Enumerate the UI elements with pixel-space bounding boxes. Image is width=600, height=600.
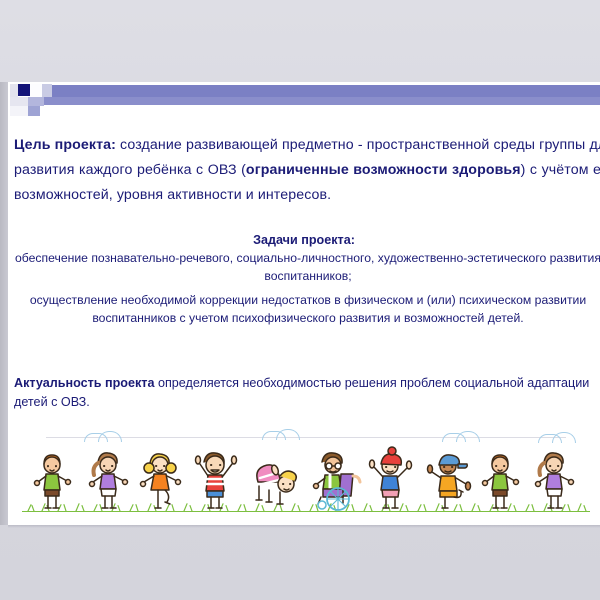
child-figure-7: [370, 447, 412, 508]
slide-header-decoration: [8, 82, 600, 117]
presentation-slide[interactable]: Цель проекта: создание развивающей предм…: [8, 82, 600, 525]
goal-paragraph: Цель проекта: создание развивающей предм…: [14, 133, 600, 208]
child-figure-10: [536, 453, 574, 508]
mosaic-tile-d: [10, 97, 28, 106]
goal-bold-lead: Цель проекта:: [14, 137, 116, 153]
screenshot-viewport: Цель проекта: создание развивающей предм…: [0, 0, 600, 600]
task-item-1: обеспечение познавательно-речевого, соци…: [14, 250, 600, 285]
tasks-heading: Задачи проекта:: [8, 233, 600, 247]
goal-bold-term: ограниченные возможности здоровья: [246, 162, 521, 178]
child-figure-6: [314, 453, 361, 510]
child-figure-8: [428, 455, 471, 508]
children-illustration: [22, 423, 590, 516]
mosaic-tile-white: [30, 84, 42, 97]
child-figure-2: [90, 453, 128, 508]
child-figure-1: [35, 455, 71, 508]
tasks-block: обеспечение познавательно-речевого, соци…: [14, 250, 600, 327]
mosaic-tile-navy: [18, 84, 30, 96]
task-item-2: осуществление необходимой коррекции недо…: [14, 292, 600, 327]
children-figures: [22, 434, 590, 512]
mosaic-tile-a: [10, 84, 18, 97]
slide-bottom-shadow: [8, 525, 600, 528]
child-figure-3: [141, 454, 181, 508]
header-accent-bar: [52, 85, 600, 97]
mosaic-tile-lavender: [42, 84, 52, 97]
relevance-paragraph: Актуальность проекта определяется необхо…: [14, 374, 594, 412]
child-figure-9: [483, 455, 519, 508]
mosaic-tile-e: [28, 97, 44, 106]
header-accent-bar-secondary: [44, 97, 600, 105]
child-figure-4: [196, 453, 237, 508]
child-figure-5: [256, 464, 296, 504]
mosaic-tile-f: [28, 106, 40, 116]
mosaic-tile-g: [10, 106, 28, 116]
relevance-bold-lead: Актуальность проекта: [14, 376, 154, 390]
slide-left-edge: [0, 82, 8, 525]
